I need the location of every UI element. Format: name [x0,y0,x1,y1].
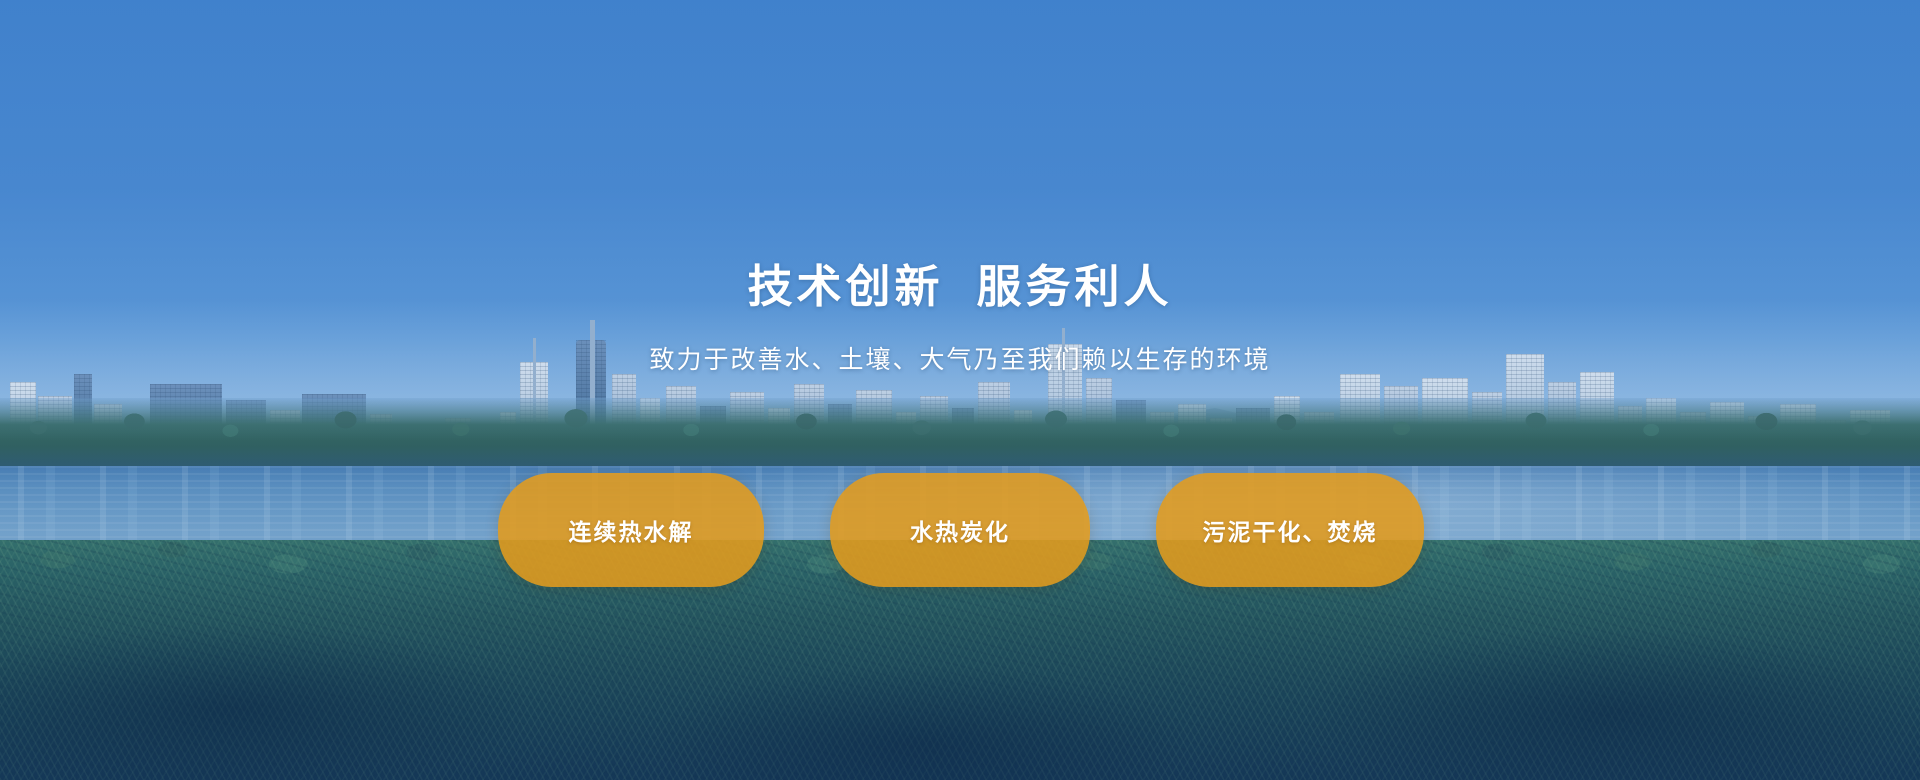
hero-banner: 技术创新 服务利人 致力于改善水、土壤、大气乃至我们赖以生存的环境 连续热水解 … [0,0,1920,780]
tech-button-continuous-thermal-hydrolysis[interactable]: 连续热水解 [498,473,764,587]
hero-subtitle: 致力于改善水、土壤、大气乃至我们赖以生存的环境 [0,345,1920,376]
tech-button-hydrothermal-carbonization[interactable]: 水热炭化 [830,473,1090,587]
tech-button-sludge-drying-incineration[interactable]: 污泥干化、焚烧 [1156,473,1424,587]
hero-content: 技术创新 服务利人 致力于改善水、土壤、大气乃至我们赖以生存的环境 连续热水解 … [0,0,1920,780]
technology-button-row: 连续热水解 水热炭化 污泥干化、焚烧 [498,473,1424,587]
hero-title: 技术创新 服务利人 [0,262,1920,312]
